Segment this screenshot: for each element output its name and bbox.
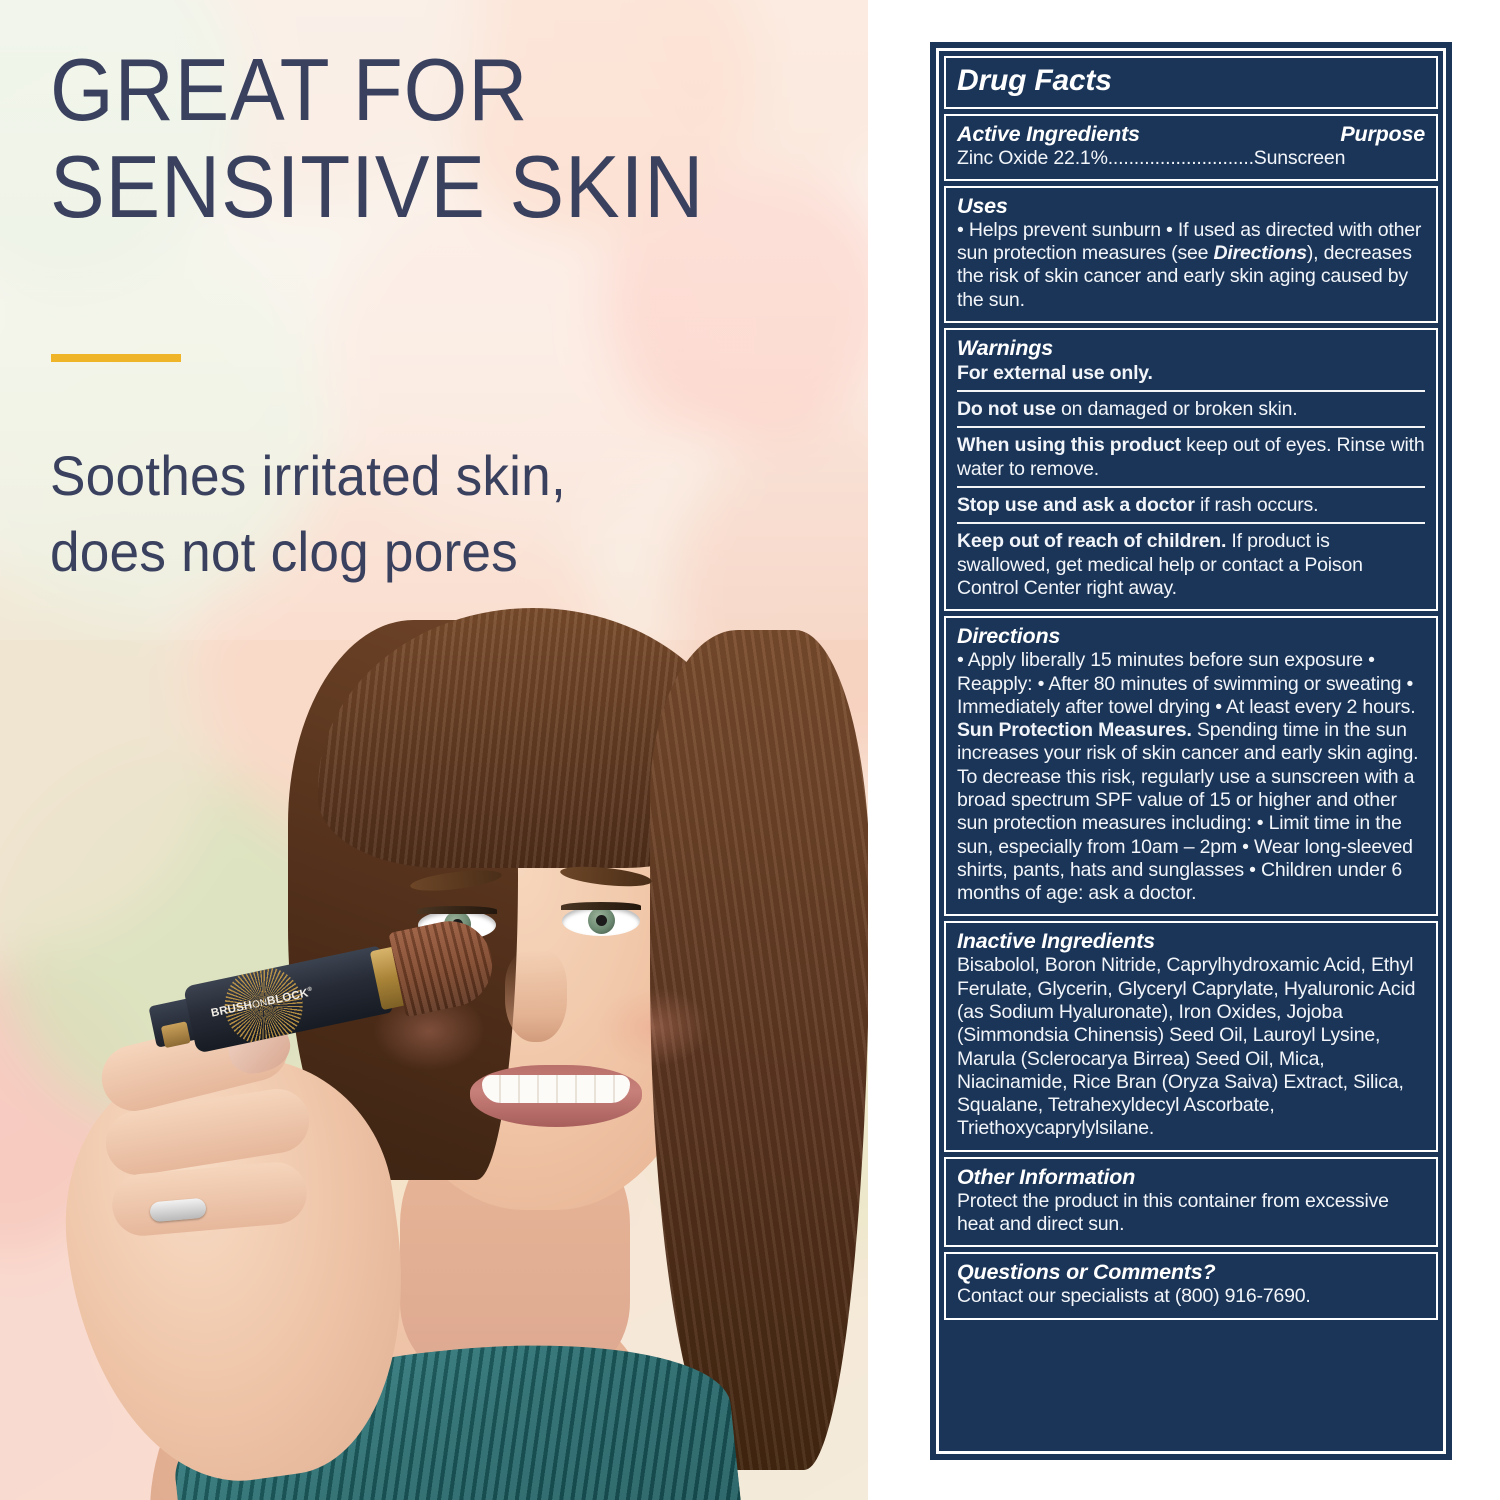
questions-heading: Questions or Comments? — [957, 1260, 1425, 1285]
directions-part-2: Spending time in the sun increases your … — [957, 719, 1418, 904]
warning-separator — [957, 486, 1425, 488]
warnings-block: Warnings For external use only. Do not u… — [944, 328, 1438, 611]
active-ingredient-line: Zinc Oxide 22.1%........................… — [957, 147, 1425, 170]
drug-facts-inner-frame: Drug Facts Active Ingredients Purpose Zi… — [936, 48, 1446, 1454]
other-information-heading: Other Information — [957, 1165, 1425, 1190]
warning-item: Stop use and ask a doctor if rash occurs… — [957, 493, 1425, 517]
subhead-line-2: does not clog pores — [50, 514, 801, 590]
warning-separator — [957, 522, 1425, 524]
registered-mark-icon: ® — [307, 987, 313, 994]
headline-line-2: SENSITIVE SKIN — [50, 139, 794, 236]
warning-item: For external use only. — [957, 361, 1425, 385]
product-cap-tip — [161, 1021, 191, 1048]
nose — [505, 950, 567, 1042]
warning-bold: Keep out of reach of children. — [957, 530, 1226, 552]
warning-separator — [957, 390, 1425, 392]
drug-facts-panel: Drug Facts Active Ingredients Purpose Zi… — [930, 42, 1452, 1460]
uses-heading: Uses — [957, 194, 1425, 219]
purpose-heading: Purpose — [1340, 122, 1425, 147]
warning-separator — [957, 426, 1425, 428]
warning-bold: For external use only. — [957, 362, 1153, 384]
gold-divider — [51, 354, 181, 362]
warning-item: When using this product keep out of eyes… — [957, 433, 1425, 481]
subhead-line-1: Soothes irritated skin, — [50, 438, 801, 514]
teeth — [482, 1075, 630, 1103]
inactive-ingredients-block: Inactive Ingredients Bisabolol, Boron Ni… — [944, 921, 1438, 1151]
questions-block: Questions or Comments? Contact our speci… — [944, 1252, 1438, 1319]
inactive-ingredients-heading: Inactive Ingredients — [957, 929, 1425, 954]
eyelash-left — [417, 906, 497, 914]
warnings-heading: Warnings — [957, 336, 1425, 361]
active-ingredients-heading: Active Ingredients — [957, 122, 1140, 147]
eyelash-right — [561, 902, 641, 910]
directions-text: • Apply liberally 15 minutes before sun … — [957, 649, 1425, 905]
headline-line-1: GREAT FOR — [50, 42, 794, 139]
page-subtitle: Soothes irritated skin, does not clog po… — [50, 438, 801, 590]
inactive-ingredients-text: Bisabolol, Boron Nitride, Caprylhydroxam… — [957, 954, 1425, 1140]
warning-rest: if rash occurs. — [1195, 494, 1319, 516]
warning-item: Keep out of reach of children. If produc… — [957, 529, 1425, 600]
cheek-right — [598, 988, 708, 1066]
active-ingredients-block: Active Ingredients Purpose Zinc Oxide 22… — [944, 114, 1438, 181]
warning-bold: Do not use — [957, 398, 1056, 420]
pupil-right — [596, 915, 607, 926]
questions-text: Contact our specialists at (800) 916-769… — [957, 1285, 1425, 1308]
model-portrait: BRUSHONBLOCK® — [0, 560, 868, 1500]
warning-bold: When using this product — [957, 434, 1181, 456]
directions-part-1: • Apply liberally 15 minutes before sun … — [957, 649, 1415, 718]
mouth — [470, 1065, 642, 1127]
uses-text: • Helps prevent sunburn • If used as dir… — [957, 219, 1425, 312]
uses-block: Uses • Helps prevent sunburn • If used a… — [944, 186, 1438, 323]
product-lifestyle-photo: BRUSHONBLOCK® GREAT FOR SENSITIVE SKIN S… — [0, 0, 868, 1500]
directions-heading: Directions — [957, 624, 1425, 649]
uses-emphasis: Directions — [1214, 242, 1307, 264]
ad-page: BRUSHONBLOCK® GREAT FOR SENSITIVE SKIN S… — [0, 0, 1500, 1500]
other-information-block: Other Information Protect the product in… — [944, 1157, 1438, 1248]
drug-facts-title: Drug Facts — [957, 64, 1425, 98]
page-title: GREAT FOR SENSITIVE SKIN — [50, 42, 794, 236]
directions-block: Directions • Apply liberally 15 minutes … — [944, 616, 1438, 916]
warning-item: Do not use on damaged or broken skin. — [957, 397, 1425, 421]
warning-rest: on damaged or broken skin. — [1056, 398, 1298, 420]
sun-protection-measures-lead: Sun Protection Measures. — [957, 719, 1192, 741]
other-information-text: Protect the product in this container fr… — [957, 1190, 1425, 1237]
warning-bold: Stop use and ask a doctor — [957, 494, 1195, 516]
drug-facts-title-block: Drug Facts — [944, 56, 1438, 109]
